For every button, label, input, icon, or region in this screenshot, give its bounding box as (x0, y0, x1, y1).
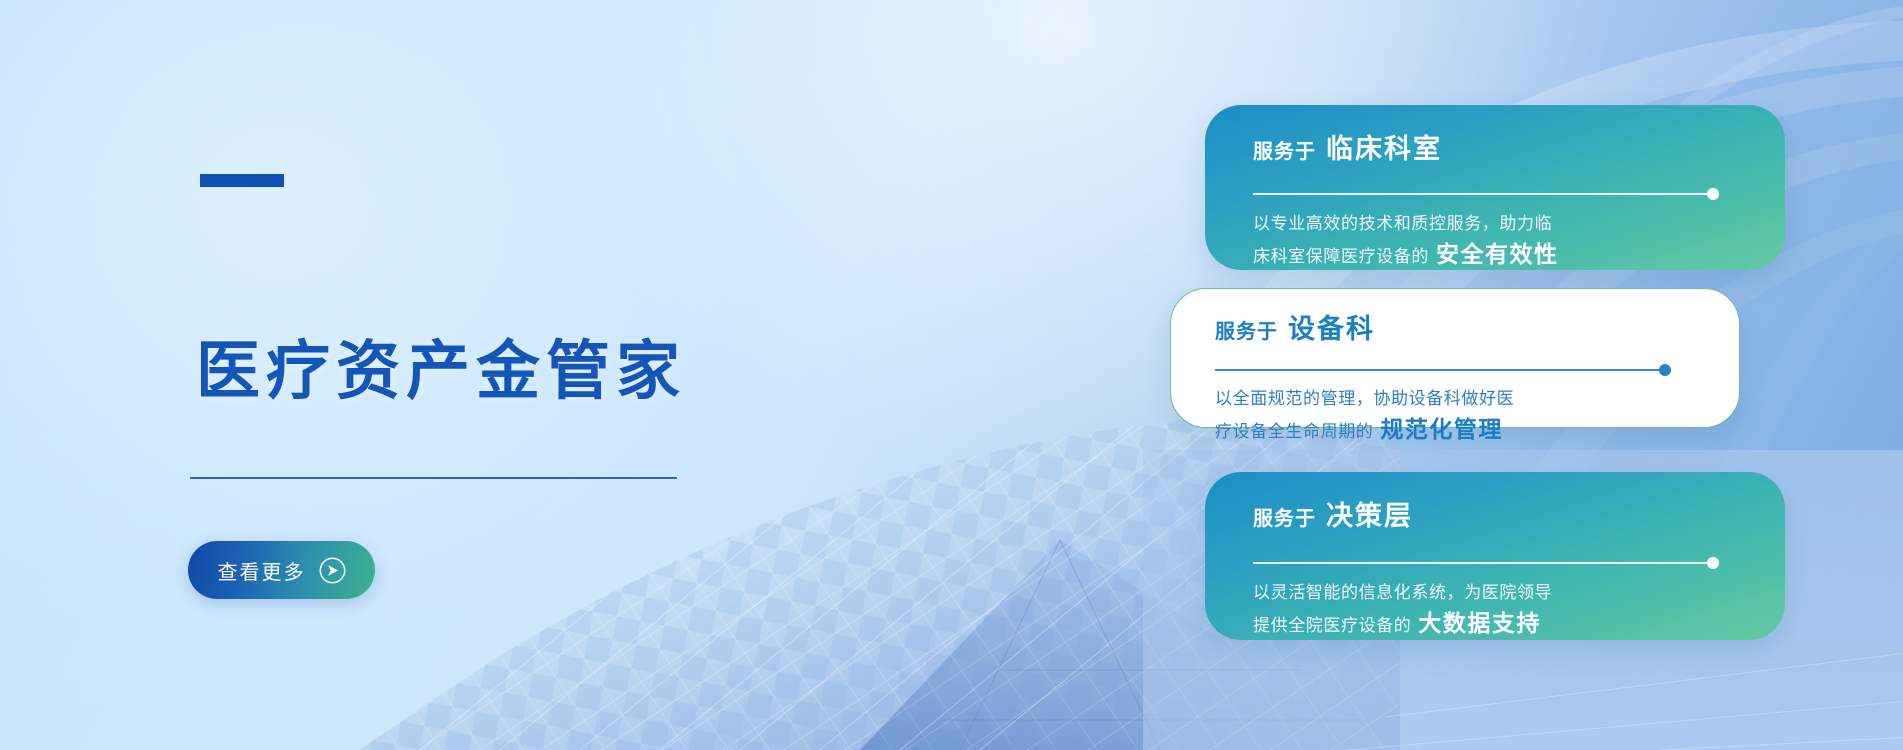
card-heading: 服务于 决策层 (1253, 494, 1413, 533)
card-rule (1253, 562, 1713, 564)
card-description: 以全面规范的管理，协助设备科做好医 疗设备全生命周期的规范化管理 (1215, 383, 1514, 447)
card-target: 设备科 (1288, 307, 1375, 346)
card-rule-dot (1659, 364, 1671, 376)
service-card-clinical[interactable]: 服务于 临床科室 以专业高效的技术和质控服务，助力临 床科室保障医疗设备的安全有… (1205, 105, 1785, 270)
service-cards: 服务于 临床科室 以专业高效的技术和质控服务，助力临 床科室保障医疗设备的安全有… (1165, 0, 1903, 750)
card-desc-line2: 疗设备全生命周期的 (1215, 422, 1373, 441)
card-description: 以灵活智能的信息化系统，为医院领导 提供全院医疗设备的大数据支持 (1253, 577, 1552, 641)
title-divider (190, 477, 677, 479)
card-heading: 服务于 临床科室 (1253, 127, 1442, 166)
card-desc-highlight: 安全有效性 (1436, 241, 1559, 267)
service-card-equipment[interactable]: 服务于 设备科 以全面规范的管理，协助设备科做好医 疗设备全生命周期的规范化管理 (1170, 288, 1740, 428)
card-description: 以专业高效的技术和质控服务，助力临 床科室保障医疗设备的安全有效性 (1253, 208, 1559, 272)
card-desc-highlight: 规范化管理 (1380, 416, 1503, 442)
view-more-label: 查看更多 (218, 556, 306, 585)
card-prefix: 服务于 (1253, 135, 1316, 164)
card-desc-highlight: 大数据支持 (1418, 610, 1541, 636)
card-rule (1215, 369, 1665, 371)
card-rule (1253, 193, 1713, 195)
card-desc-line2: 提供全院医疗设备的 (1253, 616, 1411, 635)
card-rule-dot (1707, 188, 1719, 200)
card-desc-line1: 以全面规范的管理，协助设备科做好医 (1215, 383, 1514, 414)
view-more-button[interactable]: 查看更多 (188, 541, 375, 599)
card-rule-dot (1707, 557, 1719, 569)
accent-dash (200, 174, 284, 187)
service-card-management[interactable]: 服务于 决策层 以灵活智能的信息化系统，为医院领导 提供全院医疗设备的大数据支持 (1205, 472, 1785, 640)
card-desc-line2: 床科室保障医疗设备的 (1253, 247, 1429, 266)
card-prefix: 服务于 (1215, 315, 1278, 344)
card-target: 决策层 (1326, 494, 1413, 533)
page-title: 医疗资产金管家 (196, 332, 686, 410)
card-desc-line1: 以专业高效的技术和质控服务，助力临 (1253, 208, 1559, 239)
card-heading: 服务于 设备科 (1215, 307, 1375, 346)
card-target: 临床科室 (1326, 127, 1442, 166)
circle-arrow-right-icon (319, 557, 346, 584)
hero-banner: 医疗资产金管家 查看更多 服务于 临床科室 以专业高效的技术和质控服 (0, 0, 1903, 750)
hero-left-content: 医疗资产金管家 查看更多 (190, 0, 950, 750)
card-desc-line1: 以灵活智能的信息化系统，为医院领导 (1253, 577, 1552, 608)
card-prefix: 服务于 (1253, 502, 1316, 531)
